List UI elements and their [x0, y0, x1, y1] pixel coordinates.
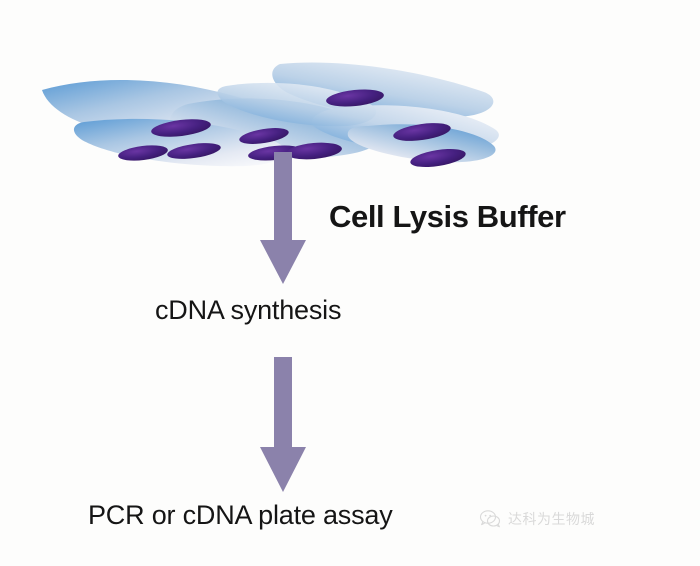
- watermark-text: 达科为生物城: [508, 509, 595, 529]
- wechat-logo-icon: [479, 508, 501, 530]
- step-label-pcr-or-cdna-plate-assay: PCR or cDNA plate assay: [88, 500, 393, 531]
- step-label-cell-lysis-buffer: Cell Lysis Buffer: [329, 199, 566, 235]
- cell-cluster-svg: [38, 30, 500, 170]
- diagram-canvas: Cell Lysis Buffer cDNA synthesis PCR or …: [0, 0, 700, 566]
- arrow-cdna-to-assay: [244, 357, 322, 492]
- down-arrow-icon: [244, 152, 322, 284]
- arrow-shape: [260, 152, 306, 284]
- step-label-cdna-synthesis: cDNA synthesis: [155, 295, 341, 326]
- down-arrow-icon: [244, 357, 322, 492]
- arrow-shape: [260, 357, 306, 492]
- arrow-cells-to-cdna: [244, 152, 322, 284]
- watermark: 达科为生物城: [479, 508, 595, 530]
- cell-monolayer-illustration: [38, 30, 500, 170]
